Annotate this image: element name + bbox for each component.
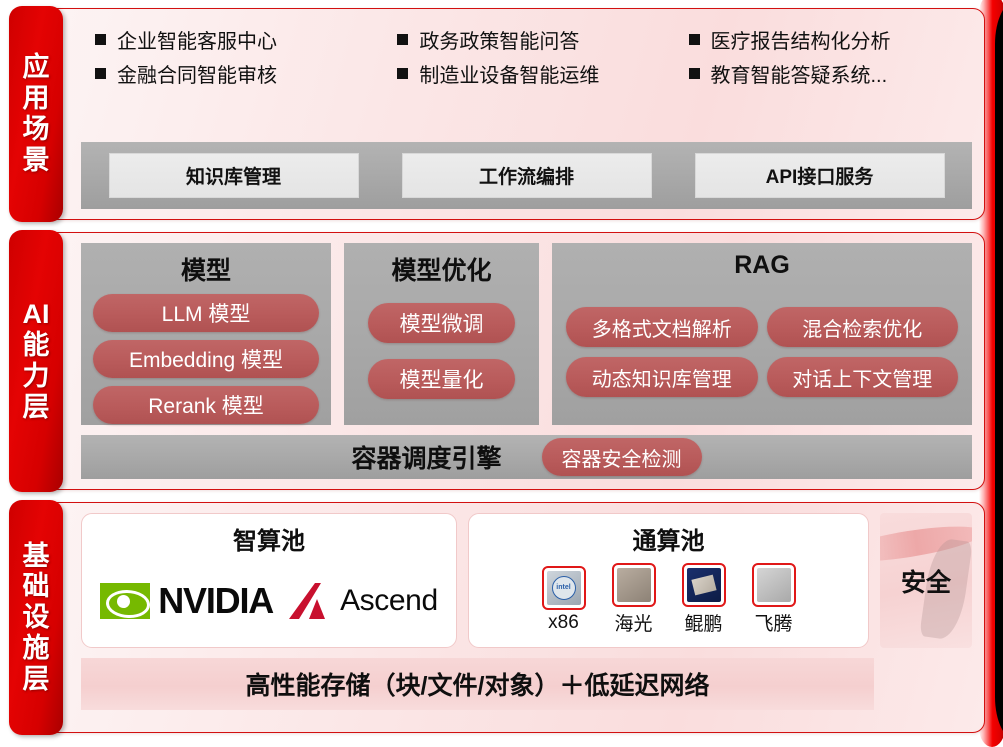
layer-tab-application: 应用场景 xyxy=(9,6,63,222)
capability-button-api[interactable]: API接口服务 xyxy=(695,153,945,198)
scenario-label: 企业智能客服中心 xyxy=(117,25,277,54)
cpu-chip-phytium[interactable]: 飞腾 xyxy=(752,563,796,636)
scenario-item: 企业智能客服中心 xyxy=(95,25,393,54)
infrastructure-layer-body: 智算池 NVIDIA Ascend xyxy=(73,503,984,732)
bullet-square-icon xyxy=(397,34,408,45)
scenario-label: 制造业设备智能运维 xyxy=(419,59,599,88)
scenario-item: 教育智能答疑系统... xyxy=(689,59,970,88)
ascend-wordmark: Ascend xyxy=(340,584,438,618)
scenario-label: 教育智能答疑系统... xyxy=(711,59,888,88)
cpu-chip-label: x86 xyxy=(548,612,579,634)
scenario-list: 企业智能客服中心 政务政策智能问答 医疗报告结构化分析 金融合同智能审核 制造业… xyxy=(81,19,972,98)
scenario-item: 制造业设备智能运维 xyxy=(397,59,684,88)
scenario-item: 金融合同智能审核 xyxy=(95,59,393,88)
ascend-mark-icon xyxy=(287,581,333,621)
container-engine-bar: 容器调度引擎 容器安全检测 xyxy=(81,435,972,479)
layer-tab-infrastructure: 基础设施层 xyxy=(9,500,63,735)
layer-tab-ai: AI能力层 xyxy=(9,230,63,492)
optimization-pill-finetune[interactable]: 模型微调 xyxy=(368,303,515,343)
security-panel: 安全 xyxy=(880,513,972,648)
ai-panel-title: 模型优化 xyxy=(391,251,491,287)
ai-panel-models: 模型 LLM 模型 Embedding 模型 Rerank 模型 xyxy=(81,243,331,425)
cpu-chip-x86[interactable]: x86 xyxy=(542,566,586,634)
ai-panel-rag: RAG 多格式文档解析 混合检索优化 动态知识库管理 对话上下文管理 xyxy=(552,243,972,425)
kunpeng-chip-icon xyxy=(682,563,726,607)
application-layer-body: 企业智能客服中心 政务政策智能问答 医疗报告结构化分析 金融合同智能审核 制造业… xyxy=(73,9,984,219)
ascend-logo: Ascend xyxy=(287,581,438,621)
cpu-chip-kunpeng[interactable]: 鲲鹏 xyxy=(682,563,726,636)
layer-tab-application-label: 应用场景 xyxy=(19,52,53,175)
scenario-label: 金融合同智能审核 xyxy=(117,59,277,88)
rag-pill-document-parsing[interactable]: 多格式文档解析 xyxy=(566,307,758,347)
storage-network-bar: 高性能存储（块/文件/对象）＋低延迟网络 xyxy=(81,658,874,710)
optimization-pill-quantization[interactable]: 模型量化 xyxy=(368,359,515,399)
layer-tab-ai-label: AI能力层 xyxy=(19,299,53,422)
model-pill-embedding[interactable]: Embedding 模型 xyxy=(93,340,319,378)
cpu-chip-row: x86 海光 鲲鹏 飞腾 xyxy=(542,560,796,641)
infrastructure-card-row: 智算池 NVIDIA Ascend xyxy=(81,513,972,648)
cpu-chip-label: 飞腾 xyxy=(754,609,792,636)
platform-capability-bar: 知识库管理 工作流编排 API接口服务 xyxy=(81,142,972,209)
ai-panel-title: 模型 xyxy=(181,251,231,287)
rag-pill-hybrid-retrieval[interactable]: 混合检索优化 xyxy=(767,307,959,347)
bullet-square-icon xyxy=(95,34,106,45)
security-label: 安全 xyxy=(901,563,951,599)
model-pill-rerank[interactable]: Rerank 模型 xyxy=(93,386,319,424)
bullet-square-icon xyxy=(95,68,106,79)
phytium-chip-icon xyxy=(752,563,796,607)
storage-network-label: 高性能存储（块/文件/对象）＋低延迟网络 xyxy=(246,666,710,702)
model-pill-list: LLM 模型 Embedding 模型 Rerank 模型 xyxy=(93,294,319,424)
ai-panel-title: RAG xyxy=(734,251,790,280)
compute-pool-title: 智算池 xyxy=(233,521,305,556)
bullet-square-icon xyxy=(689,68,700,79)
ai-layer-body: 模型 LLM 模型 Embedding 模型 Rerank 模型 模型优化 模型… xyxy=(73,233,984,489)
rag-pill-grid: 多格式文档解析 混合检索优化 动态知识库管理 对话上下文管理 xyxy=(564,287,960,415)
intel-chip-icon xyxy=(542,566,586,610)
bullet-square-icon xyxy=(689,34,700,45)
nvidia-eye-icon xyxy=(100,583,150,619)
ai-capability-layer: AI能力层 模型 LLM 模型 Embedding 模型 Rerank 模型 模… xyxy=(10,232,985,490)
scenario-item: 政务政策智能问答 xyxy=(397,25,684,54)
nvidia-logo: NVIDIA xyxy=(100,580,273,622)
cpu-chip-hygon[interactable]: 海光 xyxy=(612,563,656,636)
general-compute-pool-card: 通算池 x86 海光 鲲鹏 xyxy=(468,513,869,648)
architecture-stack: 应用场景 企业智能客服中心 政务政策智能问答 医疗报告结构化分析 金融 xyxy=(0,0,1003,741)
scenario-item: 医疗报告结构化分析 xyxy=(689,25,970,54)
infrastructure-layer: 基础设施层 智算池 NVIDIA xyxy=(10,502,985,733)
layer-tab-infrastructure-label: 基础设施层 xyxy=(19,541,53,695)
cpu-chip-label: 海光 xyxy=(614,609,652,636)
rag-pill-dynamic-kb[interactable]: 动态知识库管理 xyxy=(566,357,758,397)
scenario-label: 政务政策智能问答 xyxy=(419,25,579,54)
hygon-chip-icon xyxy=(612,563,656,607)
ai-panel-optimization: 模型优化 模型微调 模型量化 xyxy=(344,243,539,425)
rag-pill-context-management[interactable]: 对话上下文管理 xyxy=(767,357,959,397)
gpu-vendor-logos: NVIDIA Ascend xyxy=(100,560,437,641)
capability-button-workflow[interactable]: 工作流编排 xyxy=(402,153,652,198)
ai-panel-row: 模型 LLM 模型 Embedding 模型 Rerank 模型 模型优化 模型… xyxy=(81,243,972,425)
capability-button-knowledge-base[interactable]: 知识库管理 xyxy=(109,153,359,198)
model-pill-llm[interactable]: LLM 模型 xyxy=(93,294,319,332)
container-security-badge[interactable]: 容器安全检测 xyxy=(542,438,702,476)
container-engine-title: 容器调度引擎 xyxy=(351,439,501,475)
general-pool-title: 通算池 xyxy=(633,521,705,556)
compute-pool-card: 智算池 NVIDIA Ascend xyxy=(81,513,457,648)
bullet-square-icon xyxy=(397,68,408,79)
nvidia-wordmark: NVIDIA xyxy=(158,580,273,622)
cpu-chip-label: 鲲鹏 xyxy=(684,609,722,636)
scenario-label: 医疗报告结构化分析 xyxy=(711,25,891,54)
optimization-pill-list: 模型微调 模型量化 xyxy=(356,294,527,415)
application-layer: 应用场景 企业智能客服中心 政务政策智能问答 医疗报告结构化分析 金融 xyxy=(10,8,985,220)
